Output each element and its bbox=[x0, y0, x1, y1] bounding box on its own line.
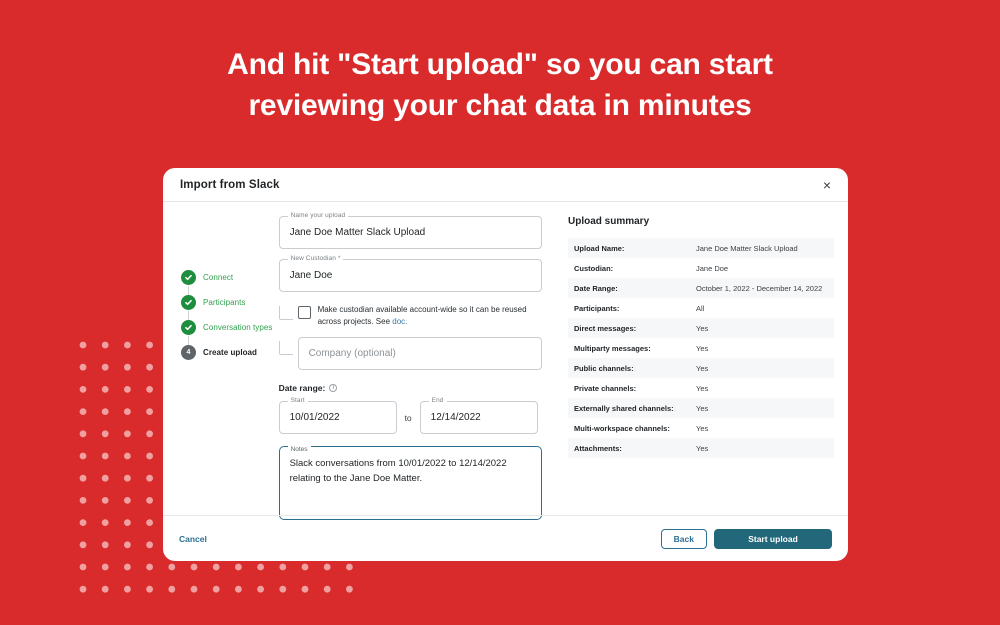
cancel-button[interactable]: Cancel bbox=[179, 534, 207, 544]
summary-value: October 1, 2022 - December 14, 2022 bbox=[696, 284, 822, 293]
date-separator: to bbox=[405, 413, 412, 423]
wizard-stepper: ConnectParticipantsConversation types4Cr… bbox=[163, 216, 279, 515]
date-range-label: Date range: i bbox=[279, 383, 542, 393]
summary-row: Upload Name:Jane Doe Matter Slack Upload bbox=[568, 238, 834, 258]
summary-key: Date Range: bbox=[568, 284, 696, 293]
step-current-icon: 4 bbox=[181, 345, 196, 360]
step-check-icon bbox=[181, 295, 196, 310]
stepper-item-participants[interactable]: Participants bbox=[181, 290, 279, 315]
notes-legend: Notes bbox=[288, 442, 311, 457]
headline-line-1: And hit "Start upload" so you can start bbox=[0, 44, 1000, 85]
stepper-item-label: Participants bbox=[203, 298, 245, 307]
page-headline: And hit "Start upload" so you can start … bbox=[0, 44, 1000, 126]
stepper-item-create-upload[interactable]: 4Create upload bbox=[181, 340, 279, 365]
custodian-field[interactable]: New Custodian * Jane Doe bbox=[279, 259, 542, 292]
summary-value: Yes bbox=[696, 324, 708, 333]
summary-key: Multi-workspace channels: bbox=[568, 424, 696, 433]
date-range-row: Start 10/01/2022 to End 12/14/2022 bbox=[279, 401, 542, 434]
summary-row: Externally shared channels:Yes bbox=[568, 398, 834, 418]
start-upload-button[interactable]: Start upload bbox=[714, 529, 832, 549]
summary-value: Yes bbox=[696, 364, 708, 373]
stepper-item-connect[interactable]: Connect bbox=[181, 265, 279, 290]
step-number: 4 bbox=[187, 349, 191, 356]
step-check-icon bbox=[181, 320, 196, 335]
upload-form: Name your upload Jane Doe Matter Slack U… bbox=[279, 216, 542, 515]
account-wide-label: Make custodian available account-wide so… bbox=[318, 302, 542, 328]
stepper-item-label: Create upload bbox=[203, 348, 257, 357]
summary-row: Custodian:Jane Doe bbox=[568, 258, 834, 278]
end-date-legend: End bbox=[429, 397, 447, 404]
date-range-text: Date range: bbox=[279, 383, 326, 393]
footer-actions: Back Start upload bbox=[661, 529, 832, 549]
upload-name-value: Jane Doe Matter Slack Upload bbox=[290, 227, 426, 238]
dialog-title: Import from Slack bbox=[180, 179, 832, 191]
summary-value: Yes bbox=[696, 384, 708, 393]
summary-row: Private channels:Yes bbox=[568, 378, 834, 398]
summary-key: Private channels: bbox=[568, 384, 696, 393]
summary-row: Participants:All bbox=[568, 298, 834, 318]
account-wide-checkbox[interactable] bbox=[298, 306, 311, 319]
close-icon[interactable]: × bbox=[818, 176, 836, 194]
summary-row: Multiparty messages:Yes bbox=[568, 338, 834, 358]
headline-line-2: reviewing your chat data in minutes bbox=[0, 85, 1000, 126]
tree-elbow-icon bbox=[279, 306, 293, 320]
doc-link[interactable]: doc. bbox=[392, 317, 407, 326]
summary-key: Upload Name: bbox=[568, 244, 696, 253]
upload-name-legend: Name your upload bbox=[288, 212, 349, 219]
summary-key: Custodian: bbox=[568, 264, 696, 273]
summary-key: Externally shared channels: bbox=[568, 404, 696, 413]
notes-value: Slack conversations from 10/01/2022 to 1… bbox=[290, 458, 507, 484]
import-from-slack-dialog: Import from Slack × ConnectParticipantsC… bbox=[163, 168, 848, 561]
start-date-legend: Start bbox=[288, 397, 308, 404]
summary-key: Public channels: bbox=[568, 364, 696, 373]
summary-value: Jane Doe Matter Slack Upload bbox=[696, 244, 798, 253]
summary-key: Direct messages: bbox=[568, 324, 696, 333]
stepper-item-label: Connect bbox=[203, 273, 233, 282]
info-icon[interactable]: i bbox=[329, 384, 337, 392]
start-date-value: 10/01/2022 bbox=[290, 412, 340, 423]
back-button[interactable]: Back bbox=[661, 529, 707, 549]
upload-name-field[interactable]: Name your upload Jane Doe Matter Slack U… bbox=[279, 216, 542, 249]
summary-value: All bbox=[696, 304, 704, 313]
notes-textarea[interactable]: Notes Slack conversations from 10/01/202… bbox=[279, 446, 542, 520]
upload-summary-panel: Upload summary Upload Name:Jane Doe Matt… bbox=[542, 216, 848, 515]
company-placeholder: Company (optional) bbox=[309, 348, 396, 359]
summary-row: Public channels:Yes bbox=[568, 358, 834, 378]
summary-row: Direct messages:Yes bbox=[568, 318, 834, 338]
upload-summary-table: Upload Name:Jane Doe Matter Slack Upload… bbox=[568, 238, 834, 458]
summary-key: Multiparty messages: bbox=[568, 344, 696, 353]
company-row: Company (optional) bbox=[279, 337, 542, 370]
summary-value: Yes bbox=[696, 344, 708, 353]
end-date-value: 12/14/2022 bbox=[431, 412, 481, 423]
company-field[interactable]: Company (optional) bbox=[298, 337, 542, 370]
account-wide-text: Make custodian available account-wide so… bbox=[318, 305, 527, 326]
summary-key: Attachments: bbox=[568, 444, 696, 453]
stepper-item-conversation-types[interactable]: Conversation types bbox=[181, 315, 279, 340]
summary-value: Yes bbox=[696, 444, 708, 453]
summary-row: Attachments:Yes bbox=[568, 438, 834, 458]
summary-value: Jane Doe bbox=[696, 264, 728, 273]
tree-elbow-icon-2 bbox=[279, 341, 293, 355]
summary-key: Participants: bbox=[568, 304, 696, 313]
step-check-icon bbox=[181, 270, 196, 285]
summary-value: Yes bbox=[696, 404, 708, 413]
custodian-legend: New Custodian * bbox=[288, 255, 344, 262]
stepper-item-label: Conversation types bbox=[203, 323, 272, 332]
account-wide-row: Make custodian available account-wide so… bbox=[279, 302, 542, 328]
dialog-header: Import from Slack × bbox=[163, 168, 848, 202]
summary-row: Multi-workspace channels:Yes bbox=[568, 418, 834, 438]
end-date-field[interactable]: End 12/14/2022 bbox=[420, 401, 538, 434]
custodian-value: Jane Doe bbox=[290, 270, 333, 281]
summary-value: Yes bbox=[696, 424, 708, 433]
upload-summary-title: Upload summary bbox=[568, 216, 834, 227]
summary-row: Date Range:October 1, 2022 - December 14… bbox=[568, 278, 834, 298]
dialog-footer: Cancel Back Start upload bbox=[163, 515, 848, 561]
dialog-body: ConnectParticipantsConversation types4Cr… bbox=[163, 202, 848, 515]
start-date-field[interactable]: Start 10/01/2022 bbox=[279, 401, 397, 434]
